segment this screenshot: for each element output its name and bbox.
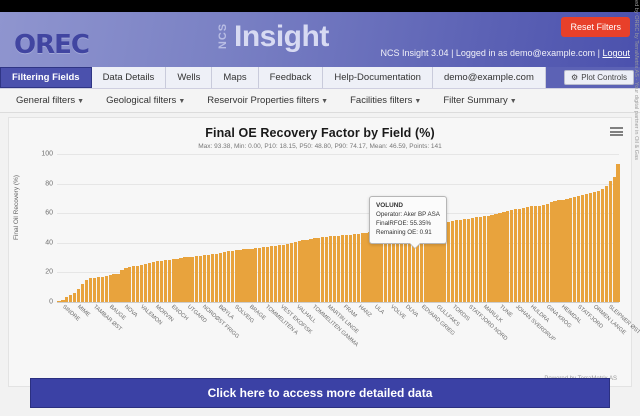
bar-10[interactable] <box>97 277 100 302</box>
bar-54[interactable] <box>270 246 273 302</box>
tooltip-operator: Operator: Aker BP ASA <box>376 211 440 220</box>
bar-19[interactable] <box>132 266 135 302</box>
filter-general[interactable]: General filters▼ <box>16 95 84 106</box>
bar-36[interactable] <box>199 256 202 302</box>
app-header: OREC NCS Insight Reset Filters NCS Insig… <box>0 12 640 67</box>
filter-menu-bar: General filters▼ Geological filters▼ Res… <box>0 89 640 113</box>
bar-105[interactable] <box>471 218 474 302</box>
filter-summary-label: Filter Summary <box>443 95 507 106</box>
bar-30[interactable] <box>175 259 178 303</box>
brand-wordmark: NCS Insight <box>208 20 329 54</box>
tab-help-documentation[interactable]: Help-Documentation <box>323 67 433 88</box>
bar-120[interactable] <box>530 206 533 302</box>
bar-48[interactable] <box>246 249 249 302</box>
bar-132[interactable] <box>577 196 580 302</box>
app-screen: OREC NCS Insight Reset Filters NCS Insig… <box>0 0 640 416</box>
bar-13[interactable] <box>109 275 112 302</box>
bar-51[interactable] <box>258 248 261 302</box>
tooltip-remaining: Remaining OE: 0.91 <box>376 229 440 238</box>
filter-reservoir-properties-label: Reservoir Properties filters <box>207 95 319 106</box>
bar-53[interactable] <box>266 247 269 302</box>
bar-35[interactable] <box>195 256 198 302</box>
bar-126[interactable] <box>553 201 556 302</box>
bar-71[interactable] <box>337 236 340 302</box>
bar-117[interactable] <box>518 209 521 302</box>
side-watermark: Prepared by OREC by TerraMetrix AS - You… <box>633 0 639 160</box>
reset-filters-button[interactable]: Reset Filters <box>561 17 630 37</box>
bar-121[interactable] <box>534 206 537 302</box>
chevron-down-icon: ▼ <box>77 98 84 105</box>
filter-summary[interactable]: Filter Summary▼ <box>443 95 516 106</box>
bar-106[interactable] <box>475 217 478 302</box>
chart-title: Final OE Recovery Factor by Field (%) <box>9 118 631 140</box>
bar-112[interactable] <box>498 213 501 302</box>
plot-controls-label: Plot Controls <box>581 73 627 82</box>
bar-130[interactable] <box>569 198 572 302</box>
y-axis-tick-labels: 020406080100 <box>29 154 53 302</box>
tooltip-rfoe: FinalRFOE: 55.35% <box>376 220 440 229</box>
bar-26[interactable] <box>160 261 163 302</box>
bar-109[interactable] <box>487 216 490 302</box>
bar-5[interactable] <box>77 289 80 302</box>
bar-55[interactable] <box>274 246 277 302</box>
tab-wells[interactable]: Wells <box>166 67 212 88</box>
bar-49[interactable] <box>250 249 253 302</box>
bar-52[interactable] <box>262 247 265 302</box>
bar-64[interactable] <box>309 239 312 302</box>
x-tick-label: DUVA <box>404 304 419 319</box>
bar-99[interactable] <box>447 222 450 302</box>
bar-131[interactable] <box>573 197 576 302</box>
bar-141[interactable] <box>613 177 616 302</box>
gear-icon: ⚙ <box>571 73 578 82</box>
tab-user-account[interactable]: demo@example.com <box>433 67 546 88</box>
bar-15[interactable] <box>116 274 119 302</box>
bar-103[interactable] <box>463 219 466 302</box>
tab-filtering-fields[interactable]: Filtering Fields <box>0 67 92 88</box>
bar-115[interactable] <box>510 210 513 302</box>
bar-102[interactable] <box>459 220 462 302</box>
bar-75[interactable] <box>353 234 356 302</box>
bar-139[interactable] <box>605 186 608 302</box>
filter-facilities[interactable]: Facilities filters▼ <box>350 95 421 106</box>
bar-8[interactable] <box>89 278 92 302</box>
bar-68[interactable] <box>325 237 328 302</box>
bar-41[interactable] <box>219 253 222 302</box>
chart-panel: Final OE Recovery Factor by Field (%) Ma… <box>8 117 632 387</box>
bar-134[interactable] <box>585 194 588 302</box>
x-axis-line <box>57 302 619 303</box>
y-axis-title: Final Oil Recovery (%) <box>13 175 20 240</box>
bar-9[interactable] <box>93 278 96 302</box>
detailed-data-button[interactable]: Click here to access more detailed data <box>30 378 610 408</box>
bar-37[interactable] <box>203 255 206 302</box>
top-black-strip <box>0 0 640 12</box>
chart-tooltip: VOLUND Operator: Aker BP ASA FinalRFOE: … <box>369 196 447 244</box>
cta-container: Click here to access more detailed data <box>0 378 640 408</box>
bar-111[interactable] <box>494 214 497 302</box>
bar-140[interactable] <box>609 181 612 302</box>
y-tick-20: 20 <box>29 269 53 276</box>
bar-34[interactable] <box>191 257 194 302</box>
filter-general-label: General filters <box>16 95 75 106</box>
bar-23[interactable] <box>148 263 151 302</box>
bar-57[interactable] <box>282 245 285 302</box>
bar-45[interactable] <box>235 250 238 302</box>
bar-108[interactable] <box>483 216 486 302</box>
bar-59[interactable] <box>290 243 293 302</box>
user-status-line: NCS Insight 3.04 | Logged in as demo@exa… <box>381 48 630 58</box>
bar-60[interactable] <box>294 242 297 302</box>
bar-135[interactable] <box>589 193 592 302</box>
y-tick-80: 80 <box>29 180 53 187</box>
bar-33[interactable] <box>187 257 190 302</box>
bar-43[interactable] <box>227 251 230 302</box>
bar-series[interactable] <box>57 154 619 302</box>
bar-31[interactable] <box>179 258 182 302</box>
filter-facilities-label: Facilities filters <box>350 95 412 106</box>
tab-data-details[interactable]: Data Details <box>92 67 167 88</box>
main-tab-bar: Filtering Fields Data Details Wells Maps… <box>0 67 640 89</box>
bar-25[interactable] <box>156 261 159 302</box>
bar-110[interactable] <box>490 215 493 302</box>
bar-6[interactable] <box>81 284 84 302</box>
chevron-down-icon: ▼ <box>178 98 185 105</box>
bar-47[interactable] <box>242 249 245 302</box>
brand-name: Insight <box>234 20 329 54</box>
bar-107[interactable] <box>479 217 482 302</box>
bar-142[interactable] <box>616 164 619 302</box>
chart-subtitle: Max: 93.38, Min: 0.00, P10: 18.15, P50: … <box>9 143 631 150</box>
bar-67[interactable] <box>321 237 324 302</box>
bar-136[interactable] <box>593 192 596 302</box>
bar-20[interactable] <box>136 266 139 302</box>
bar-38[interactable] <box>207 255 210 302</box>
bar-69[interactable] <box>329 236 332 302</box>
bar-40[interactable] <box>215 254 218 302</box>
bar-128[interactable] <box>561 200 564 302</box>
bar-127[interactable] <box>557 200 560 302</box>
hamburger-icon[interactable] <box>610 126 623 137</box>
filter-geological-label: Geological filters <box>106 95 176 106</box>
bar-77[interactable] <box>361 233 364 302</box>
filter-geological[interactable]: Geological filters▼ <box>106 95 185 106</box>
user-status-text: NCS Insight 3.04 | Logged in as demo@exa… <box>381 48 603 58</box>
bar-133[interactable] <box>581 195 584 302</box>
bar-24[interactable] <box>152 262 155 302</box>
chevron-down-icon: ▼ <box>510 98 517 105</box>
y-tick-100: 100 <box>29 151 53 158</box>
x-tick-label: HANZ <box>357 304 372 319</box>
tab-maps[interactable]: Maps <box>212 67 258 88</box>
bar-129[interactable] <box>565 199 568 302</box>
bar-78[interactable] <box>364 233 367 302</box>
y-tick-0: 0 <box>29 299 53 306</box>
bar-125[interactable] <box>550 202 553 302</box>
bar-50[interactable] <box>254 248 257 302</box>
bar-104[interactable] <box>467 219 470 302</box>
bar-65[interactable] <box>313 238 316 302</box>
bar-44[interactable] <box>231 251 234 302</box>
plot-controls-button[interactable]: ⚙ Plot Controls <box>564 70 634 85</box>
bar-138[interactable] <box>601 189 604 302</box>
bar-21[interactable] <box>140 265 143 302</box>
x-axis-tick-labels: SINDREMIMETAMBAR ØSTBAUGENOVAVALEMONMORV… <box>57 304 619 360</box>
bar-72[interactable] <box>341 235 344 302</box>
bar-63[interactable] <box>305 240 308 302</box>
x-tick-label: VOLVE <box>389 304 407 321</box>
bar-76[interactable] <box>357 234 360 302</box>
bar-22[interactable] <box>144 264 147 302</box>
bar-122[interactable] <box>538 206 541 302</box>
bar-119[interactable] <box>526 207 529 302</box>
bar-137[interactable] <box>597 191 600 302</box>
bar-101[interactable] <box>455 220 458 302</box>
chevron-down-icon: ▼ <box>321 98 328 105</box>
bar-7[interactable] <box>85 280 88 302</box>
bar-4[interactable] <box>73 293 76 302</box>
bar-124[interactable] <box>546 204 549 302</box>
bar-42[interactable] <box>223 252 226 302</box>
bar-32[interactable] <box>183 257 186 302</box>
bar-73[interactable] <box>345 235 348 302</box>
brand-prefix: NCS <box>217 21 229 51</box>
bar-56[interactable] <box>278 245 281 302</box>
bar-62[interactable] <box>301 240 304 302</box>
tab-feedback[interactable]: Feedback <box>259 67 324 88</box>
bar-113[interactable] <box>502 212 505 302</box>
bar-16[interactable] <box>120 270 123 302</box>
tooltip-title: VOLUND <box>376 201 440 210</box>
bar-58[interactable] <box>286 244 289 302</box>
bar-12[interactable] <box>105 276 108 302</box>
bar-39[interactable] <box>211 254 214 302</box>
bar-18[interactable] <box>128 267 131 302</box>
bar-11[interactable] <box>101 277 104 302</box>
bar-61[interactable] <box>298 241 301 302</box>
bar-3[interactable] <box>69 295 72 302</box>
chevron-down-icon: ▼ <box>414 98 421 105</box>
bar-100[interactable] <box>451 221 454 302</box>
bar-74[interactable] <box>349 235 352 302</box>
bar-46[interactable] <box>238 250 241 302</box>
bar-123[interactable] <box>542 205 545 302</box>
bar-29[interactable] <box>172 259 175 302</box>
bar-114[interactable] <box>506 211 509 302</box>
logout-link[interactable]: Logout <box>602 48 630 58</box>
y-tick-40: 40 <box>29 239 53 246</box>
x-tick-label: ULA <box>373 304 385 316</box>
bar-28[interactable] <box>168 260 171 302</box>
bar-70[interactable] <box>333 236 336 302</box>
bar-116[interactable] <box>514 209 517 302</box>
filter-reservoir-properties[interactable]: Reservoir Properties filters▼ <box>207 95 328 106</box>
bar-14[interactable] <box>112 274 115 302</box>
orec-logo: OREC <box>14 30 89 60</box>
bar-118[interactable] <box>522 208 525 302</box>
plot-area: Final Oil Recovery (%) 020406080100 SIND… <box>9 154 631 386</box>
bar-27[interactable] <box>164 260 167 302</box>
y-tick-60: 60 <box>29 210 53 217</box>
bar-17[interactable] <box>124 268 127 302</box>
bar-66[interactable] <box>317 238 320 302</box>
